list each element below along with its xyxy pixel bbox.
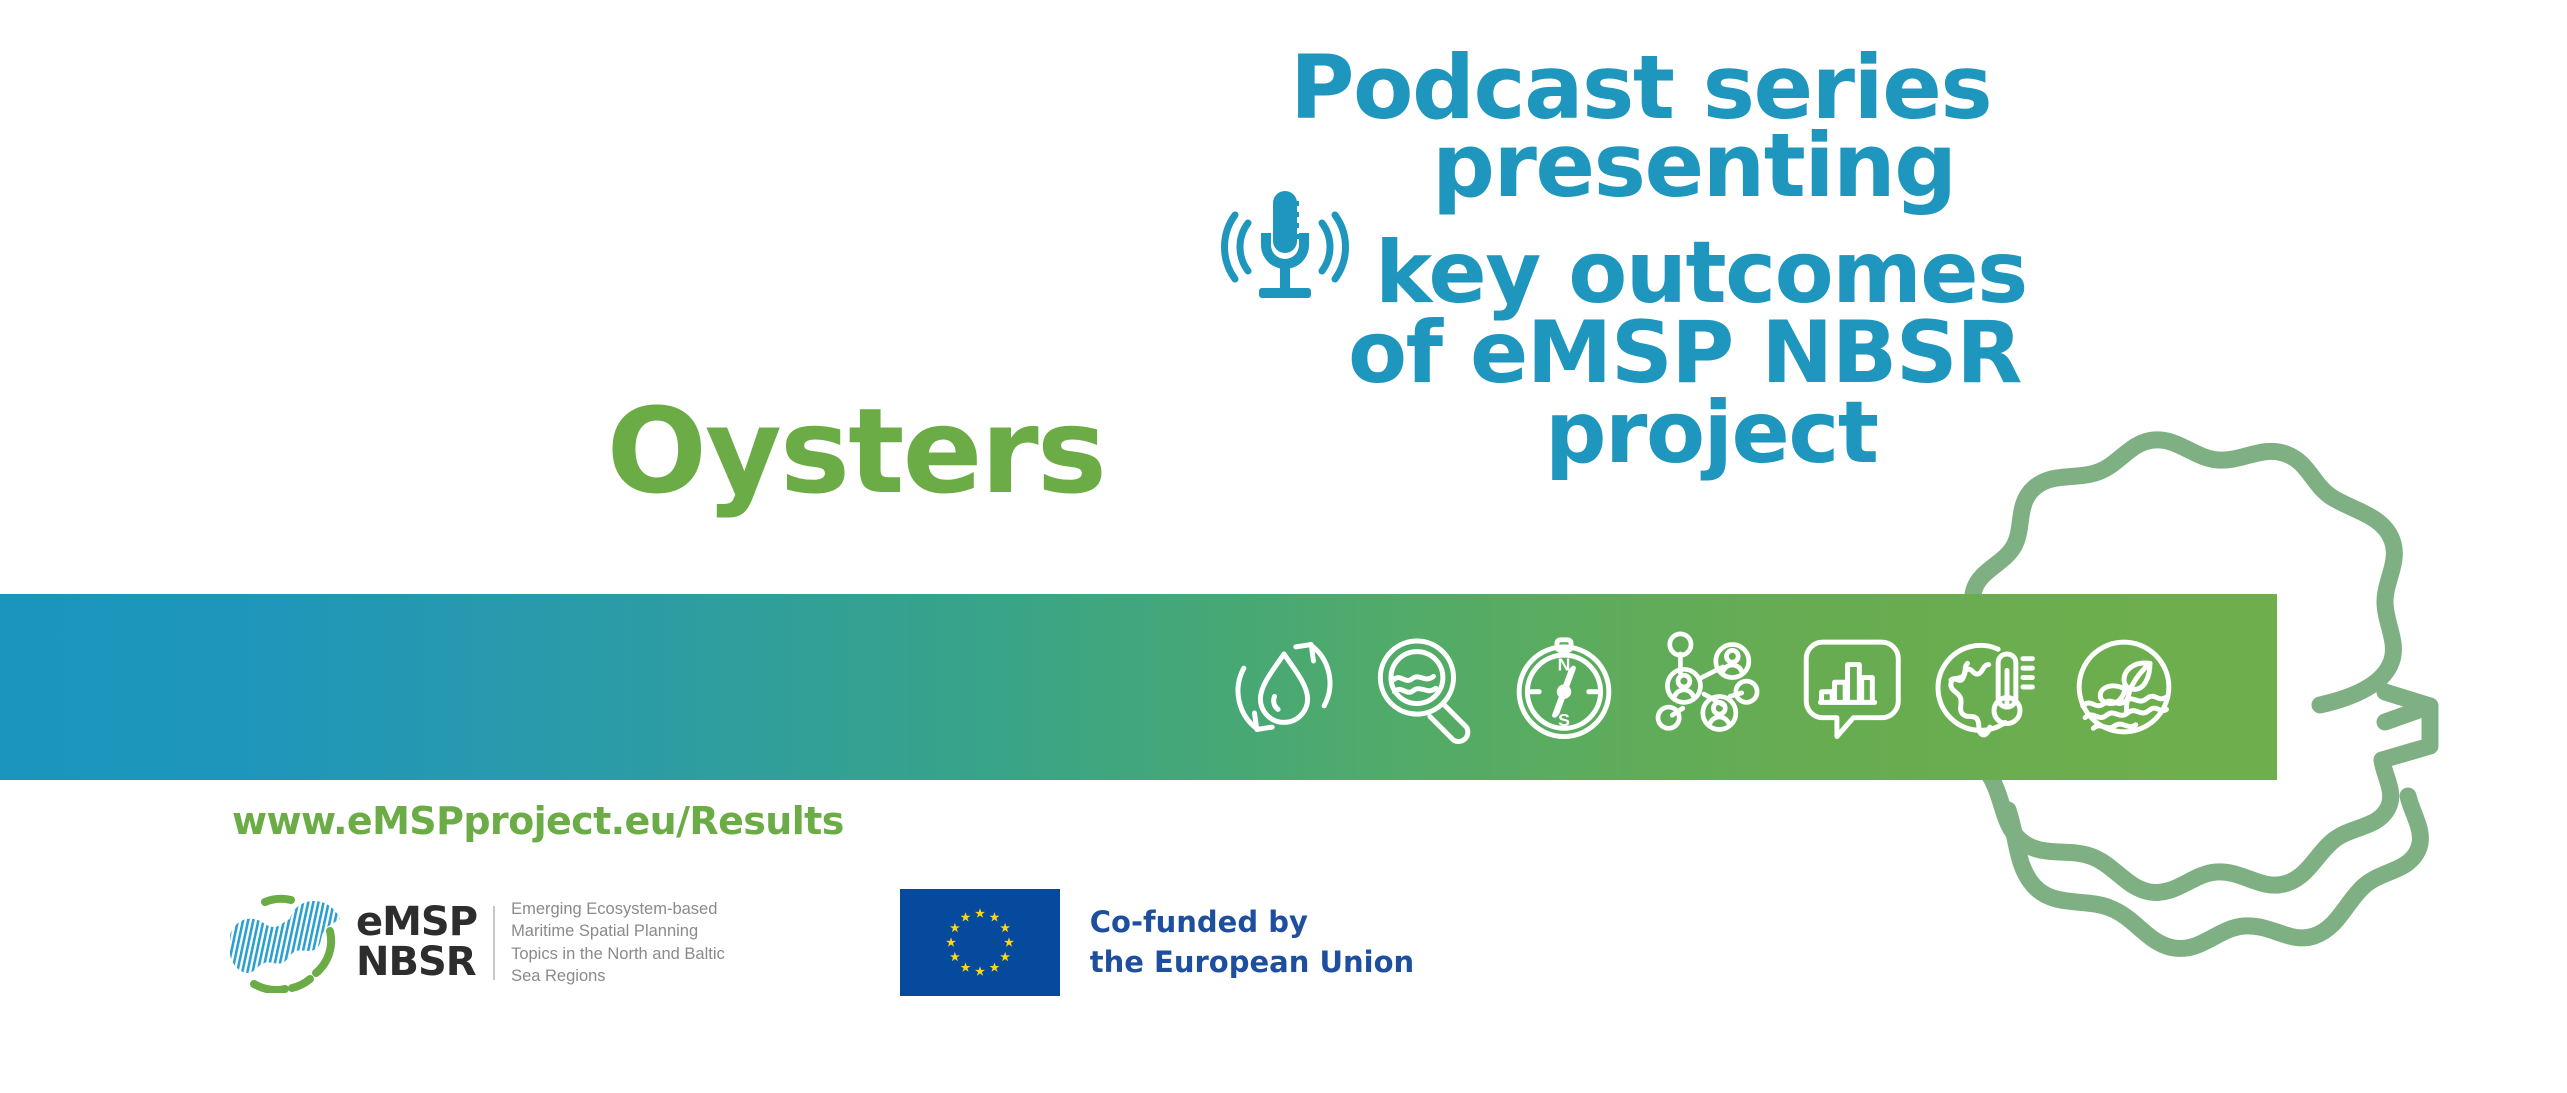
- headline-blue: Podcast series presenting key outcomes o…: [1200, 22, 2320, 492]
- emsp-nbsr-logo: eMSP NBSR Emerging Ecosystem-based Marit…: [222, 890, 725, 995]
- logo-divider: [493, 906, 495, 980]
- emsp-globe-mark-icon: [222, 893, 348, 993]
- eu-funding-text: Co-funded by the European Union: [1090, 903, 1414, 981]
- headline-blue-line2: presenting: [1432, 122, 1956, 210]
- eu-funding-text-line2: the European Union: [1090, 943, 1414, 982]
- headline-blue-line5: project: [1545, 390, 1877, 476]
- footer-logos: eMSP NBSR Emerging Ecosystem-based Marit…: [222, 890, 1414, 995]
- eu-flag-icon: [900, 889, 1060, 996]
- svg-text:N: N: [1558, 654, 1571, 674]
- poster-canvas: Oysters with a pearl Podcast series pres…: [0, 0, 2567, 1093]
- water-cycle-icon: [1225, 628, 1343, 746]
- emsp-tagline-line2: Maritime Spatial Planning: [511, 920, 725, 942]
- globe-thermometer-icon: [1925, 628, 2043, 746]
- emsp-tagline: Emerging Ecosystem-based Maritime Spatia…: [511, 898, 725, 987]
- people-network-icon: [1645, 628, 1763, 746]
- emsp-wordmark-line2: NBSR: [356, 943, 477, 982]
- microphone-icon: [1215, 185, 1355, 310]
- eu-funding-logo: Co-funded by the European Union: [900, 890, 1414, 995]
- topic-icon-strip: N S: [1225, 600, 2275, 774]
- chart-bubble-icon: [1785, 628, 1903, 746]
- emsp-tagline-line3: Topics in the North and Baltic: [511, 943, 725, 965]
- website-url[interactable]: www.eMSPproject.eu/Results: [232, 799, 844, 843]
- emsp-tagline-line4: Sea Regions: [511, 965, 725, 987]
- seagrass-waves-icon: [2065, 628, 2183, 746]
- emsp-tagline-line1: Emerging Ecosystem-based: [511, 898, 725, 920]
- emsp-wordmark: eMSP NBSR: [356, 903, 477, 981]
- compass-icon: N S: [1505, 628, 1623, 746]
- emsp-wordmark-line1: eMSP: [356, 903, 477, 942]
- svg-text:S: S: [1558, 710, 1570, 730]
- sea-magnifier-icon: [1365, 628, 1483, 746]
- eu-funding-text-line1: Co-funded by: [1090, 903, 1414, 942]
- headline-green-line1: Oysters: [440, 397, 1320, 506]
